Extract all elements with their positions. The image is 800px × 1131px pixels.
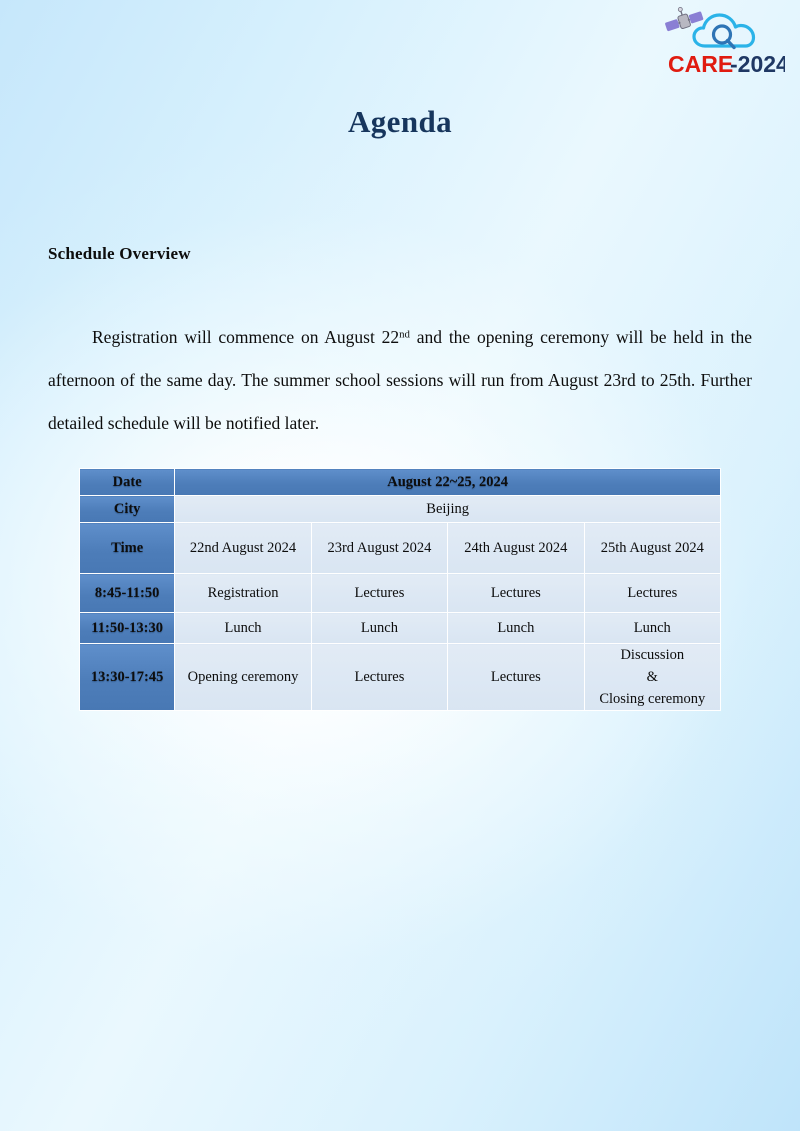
cloud-icon xyxy=(694,15,754,48)
slot-3-day-4-line3: Closing ceremony xyxy=(589,688,716,710)
table-row-slot-1: 8:45-11:50 Registration Lectures Lecture… xyxy=(80,574,721,613)
day-header-2: 23rd August 2024 xyxy=(311,523,447,574)
slot-2-day-3: Lunch xyxy=(448,613,584,644)
slot-time-1: 8:45-11:50 xyxy=(80,574,175,613)
slot-2-day-1: Lunch xyxy=(175,613,311,644)
slot-3-day-4-line2: & xyxy=(589,666,716,688)
row-header-time: Time xyxy=(80,523,175,574)
date-range-value: August 22~25, 2024 xyxy=(175,469,721,496)
logo-brand-main: CARE xyxy=(668,51,733,77)
day-header-3: 24th August 2024 xyxy=(448,523,584,574)
slot-3-day-3: Lectures xyxy=(448,644,584,711)
day-header-1: 22nd August 2024 xyxy=(175,523,311,574)
table-row-date: Date August 22~25, 2024 xyxy=(80,469,721,496)
schedule-table: Date August 22~25, 2024 City Beijing Tim… xyxy=(79,468,721,711)
table-row-city: City Beijing xyxy=(80,496,721,523)
table-row-slot-2: 11:50-13:30 Lunch Lunch Lunch Lunch xyxy=(80,613,721,644)
slot-3-day-4-line1: Discussion xyxy=(589,644,716,666)
section-heading: Schedule Overview xyxy=(48,244,191,264)
slot-3-day-1: Opening ceremony xyxy=(175,644,311,711)
slot-time-3: 13:30-17:45 xyxy=(80,644,175,711)
slot-1-day-2: Lectures xyxy=(311,574,447,613)
slot-3-day-2: Lectures xyxy=(311,644,447,711)
slot-1-day-3: Lectures xyxy=(448,574,584,613)
slot-1-day-4: Lectures xyxy=(584,574,720,613)
ordinal-suffix: nd xyxy=(399,328,410,340)
schedule-overview-paragraph: Registration will commence on August 22n… xyxy=(48,316,752,445)
document-page: CARE -2024 Agenda Schedule Overview Regi… xyxy=(0,0,800,1131)
slot-time-2: 11:50-13:30 xyxy=(80,613,175,644)
day-header-4: 25th August 2024 xyxy=(584,523,720,574)
slot-2-day-4: Lunch xyxy=(584,613,720,644)
table-row-time-headers: Time 22nd August 2024 23rd August 2024 2… xyxy=(80,523,721,574)
row-header-city: City xyxy=(80,496,175,523)
slot-1-day-1: Registration xyxy=(175,574,311,613)
table-row-slot-3: 13:30-17:45 Opening ceremony Lectures Le… xyxy=(80,644,721,711)
row-header-date: Date xyxy=(80,469,175,496)
slot-2-day-2: Lunch xyxy=(311,613,447,644)
care-2024-logo: CARE -2024 xyxy=(660,6,785,78)
logo-brand-year: -2024 xyxy=(730,51,785,77)
paragraph-text-part1: Registration will commence on August 22 xyxy=(92,327,399,347)
slot-3-day-4: Discussion & Closing ceremony xyxy=(584,644,720,711)
page-title: Agenda xyxy=(0,104,800,140)
city-value: Beijing xyxy=(175,496,721,523)
